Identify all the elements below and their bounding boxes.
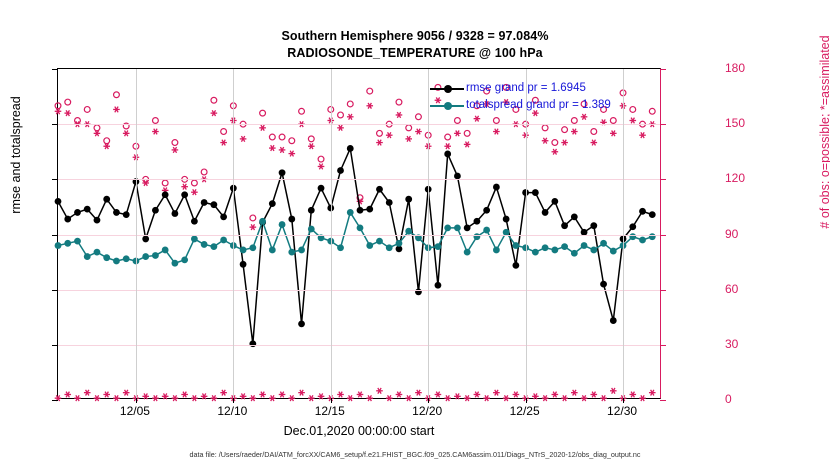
y-axis-left-tickmark — [52, 69, 58, 70]
gridline-vertical — [428, 69, 429, 398]
title-line-2: RADIOSONDE_TEMPERATURE @ 100 hPa — [0, 45, 830, 62]
gridline-horizontal — [58, 124, 660, 125]
gridline-vertical — [233, 69, 234, 398]
x-axis-tickmark — [428, 398, 429, 403]
x-axis-tickmark — [623, 398, 624, 403]
x-axis-tickmark — [233, 398, 234, 403]
y-axis-left-tickmark — [52, 345, 58, 346]
y-axis-right-tick: 90 — [725, 227, 785, 241]
y-axis-right-tickmark — [660, 69, 666, 70]
y-axis-left-tickmark — [52, 235, 58, 236]
x-axis-tickmark — [136, 398, 137, 403]
y-axis-right-tick: 60 — [725, 282, 785, 296]
gridline-horizontal — [58, 179, 660, 180]
y-axis-right-tickmark — [660, 345, 666, 346]
legend: rmse grand pr = 1.6945 totalspread grand… — [430, 80, 656, 114]
obs-rejected-markers — [55, 388, 656, 401]
y-axis-right-tickmark — [660, 400, 666, 401]
gridline-vertical — [526, 69, 527, 398]
y-axis-right-label: # of obs: o=possible; *=assimilated — [818, 0, 830, 267]
legend-item-rmse[interactable]: rmse grand pr = 1.6945 — [430, 80, 656, 97]
y-axis-left-label: rmse and totalspread — [9, 55, 23, 255]
gridline-vertical — [623, 69, 624, 398]
gridline-horizontal — [58, 290, 660, 291]
y-axis-left-tickmark — [52, 290, 58, 291]
x-axis-tick-label: 12/05 — [120, 404, 150, 418]
y-axis-right-tickmark — [660, 179, 666, 180]
y-axis-left-tickmark — [52, 124, 58, 125]
x-axis-tickmark — [331, 398, 332, 403]
y-axis-right-tick: 180 — [725, 61, 785, 75]
x-axis-tick-label: 12/30 — [607, 404, 637, 418]
y-axis-left-tickmark — [52, 400, 58, 401]
legend-item-totalspread[interactable]: totalspread grand pr = 1.389 — [430, 97, 656, 114]
gridline-horizontal — [58, 235, 660, 236]
obs-assimilated-markers — [55, 97, 656, 230]
legend-label-rmse: rmse grand pr = 1.6945 — [466, 80, 586, 97]
title-line-1: Southern Hemisphere 9056 / 9328 = 97.084… — [0, 28, 830, 45]
legend-swatch-rmse — [430, 88, 464, 90]
x-axis-tick-label: 12/20 — [412, 404, 442, 418]
gridline-vertical — [331, 69, 332, 398]
y-axis-right-tickmark — [660, 124, 666, 125]
x-axis-tick-label: 12/15 — [315, 404, 345, 418]
gridline-horizontal — [58, 345, 660, 346]
y-axis-left-tickmark — [52, 179, 58, 180]
chart-page: Southern Hemisphere 9056 / 9328 = 97.084… — [0, 0, 830, 470]
y-axis-right-tickmark — [660, 290, 666, 291]
x-axis-tickmark — [526, 398, 527, 403]
page-title: Southern Hemisphere 9056 / 9328 = 97.084… — [0, 28, 830, 62]
y-axis-right-tickmark — [660, 235, 666, 236]
legend-swatch-totalspread — [430, 105, 464, 107]
x-axis-tick-label: 12/25 — [510, 404, 540, 418]
x-axis-label: Dec.01,2020 00:00:00 start — [57, 424, 661, 438]
gridline-vertical — [136, 69, 137, 398]
y-axis-right-tick: 150 — [725, 116, 785, 130]
y-axis-right-tick: 0 — [725, 392, 785, 406]
plot-area: 00.511.522.530306090120150180 — [57, 68, 661, 399]
legend-label-totalspread: totalspread grand pr = 1.389 — [466, 97, 611, 114]
y-axis-right-tick: 30 — [725, 337, 785, 351]
data-file-footer: data file: /Users/raeder/DAI/ATM_forcXX/… — [0, 450, 830, 459]
y-axis-right-tick: 120 — [725, 171, 785, 185]
x-axis-tick-label: 12/10 — [217, 404, 247, 418]
